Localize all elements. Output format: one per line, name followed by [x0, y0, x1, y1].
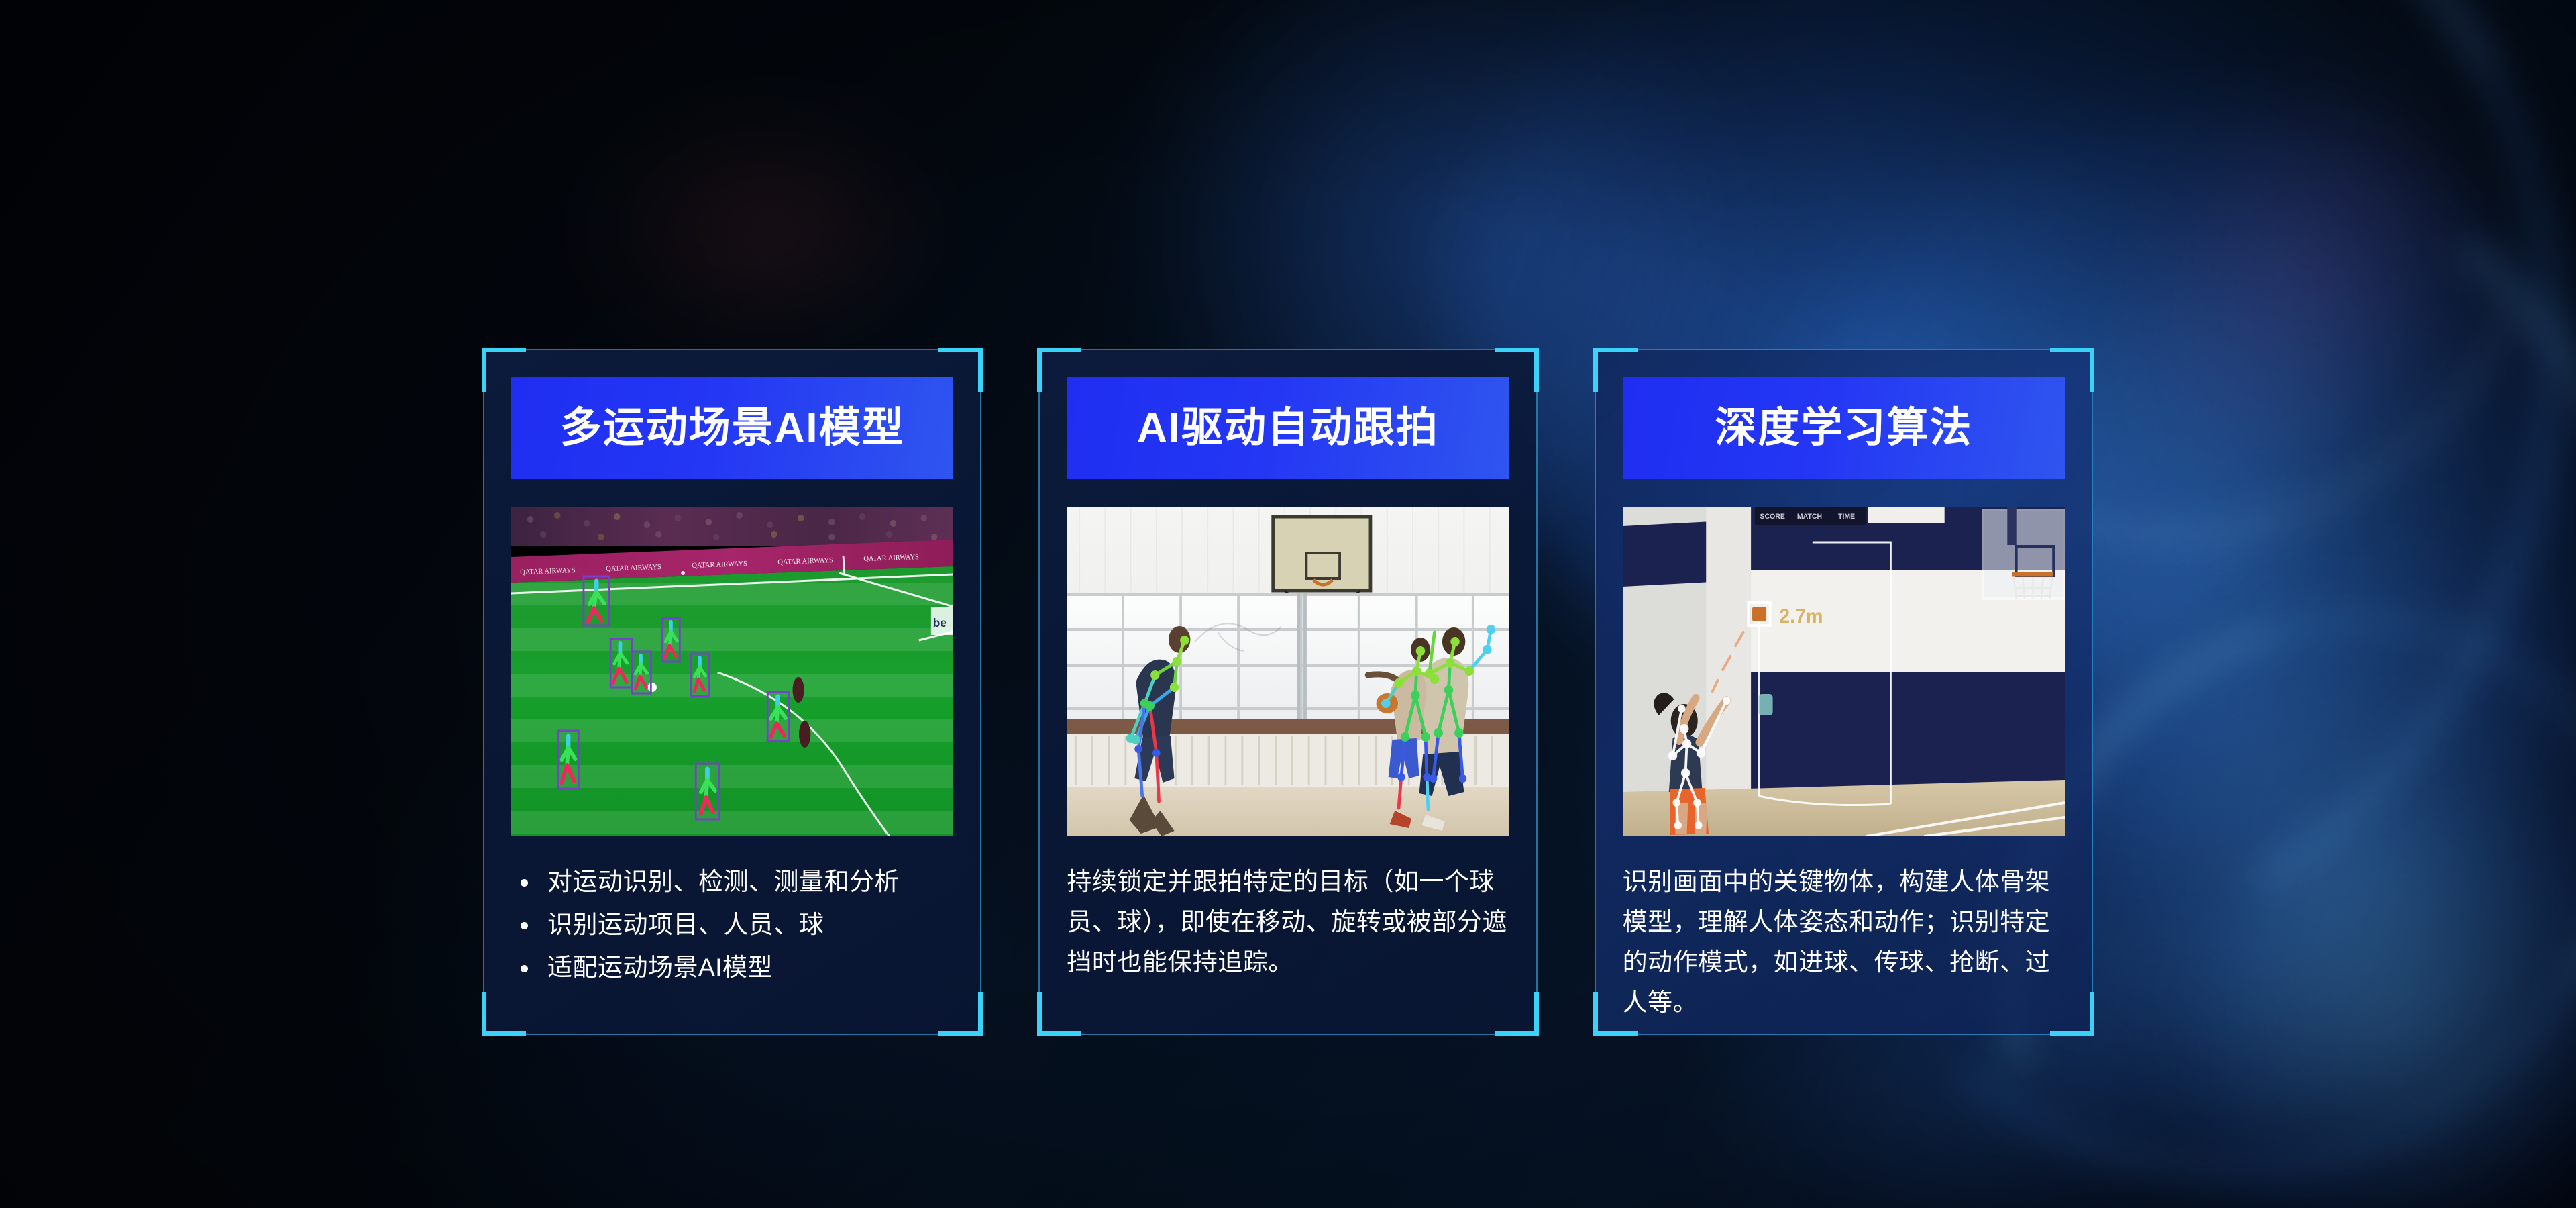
- feature-card-deep-learning[interactable]: 深度学习算法: [1595, 349, 2093, 1035]
- svg-text:SCORE: SCORE: [1760, 513, 1784, 521]
- card-title-banner: 深度学习算法: [1623, 377, 2065, 479]
- svg-text:be: be: [933, 616, 947, 630]
- card-body: 持续锁定并跟拍特定的目标（如一个球员、球），即使在移动、旋转或被部分遮挡时也能保…: [1067, 862, 1509, 983]
- feature-card-auto-tracking[interactable]: AI驱动自动跟拍: [1038, 349, 1537, 1035]
- card-title: 多运动场景AI模型: [560, 407, 905, 449]
- card-title: 深度学习算法: [1715, 407, 1972, 449]
- svg-text:TIME: TIME: [1838, 513, 1855, 521]
- card-title-banner: 多运动场景AI模型: [511, 377, 953, 479]
- card-title-banner: AI驱动自动跟拍: [1067, 377, 1509, 479]
- feature-card-sports-ai-model[interactable]: 多运动场景AI模型: [483, 349, 981, 1035]
- card-description: 识别画面中的关键物体，构建人体骨架模型，理解人体姿态和动作；识别特定的动作模式，…: [1623, 862, 2065, 1023]
- list-item: 识别运动项目、人员、球: [511, 905, 953, 945]
- card-thumbnail-shot-measurement[interactable]: SCOREMATCHTIME: [1623, 507, 2065, 836]
- card-title: AI驱动自动跟拍: [1137, 407, 1439, 449]
- list-item: 对运动识别、检测、测量和分析: [511, 862, 953, 902]
- card-body: 对运动识别、检测、测量和分析 识别运动项目、人员、球 适配运动场景AI模型: [511, 862, 953, 988]
- card-body: 识别画面中的关键物体，构建人体骨架模型，理解人体姿态和动作；识别特定的动作模式，…: [1623, 862, 2065, 1023]
- card-description: 持续锁定并跟拍特定的目标（如一个球员、球），即使在移动、旋转或被部分遮挡时也能保…: [1067, 862, 1509, 983]
- measurement-label: 2.7m: [1779, 605, 1823, 627]
- svg-text:MATCH: MATCH: [1797, 513, 1822, 521]
- feature-card-row: 多运动场景AI模型: [483, 349, 2093, 1035]
- card-thumbnail-basketball-gym[interactable]: [1067, 507, 1509, 836]
- feature-bullet-list: 对运动识别、检测、测量和分析 识别运动项目、人员、球 适配运动场景AI模型: [511, 862, 953, 988]
- list-item: 适配运动场景AI模型: [511, 948, 953, 988]
- card-thumbnail-soccer[interactable]: QATAR AIRWAYS QATAR AIRWAYS QATAR AIRWAY…: [511, 507, 953, 836]
